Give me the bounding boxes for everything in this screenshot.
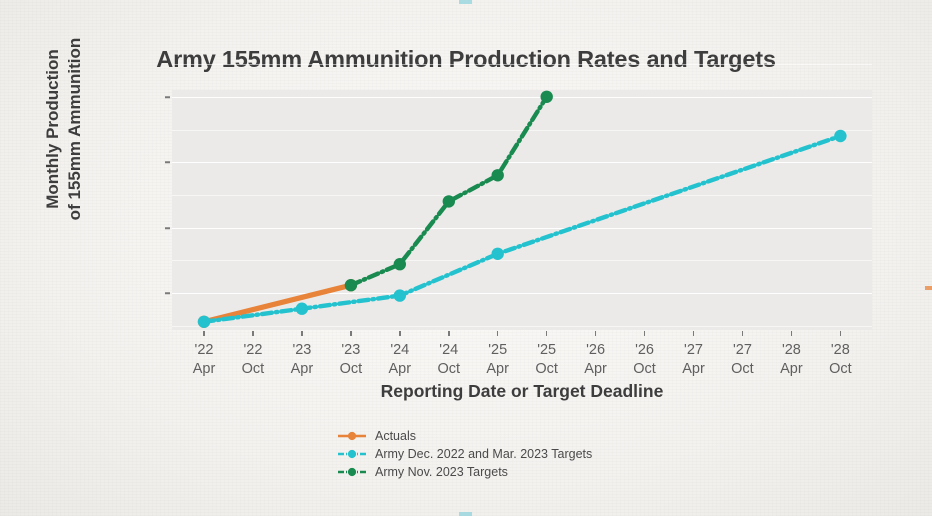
gridline-50k <box>172 228 872 229</box>
scan-artifact-bottom <box>459 512 472 516</box>
chart-title: Army 155mm Ammunition Production Rates a… <box>0 46 932 73</box>
y-tick-mark-25k <box>165 292 170 294</box>
gridline-minor-12k <box>172 326 872 327</box>
legend-key-nov2023-targets <box>337 465 367 479</box>
x-tick-mark <box>546 331 548 336</box>
y-tick-mark-100k <box>165 96 170 98</box>
gridline-75k <box>172 162 872 163</box>
x-tick-mark <box>840 331 842 336</box>
plot-area <box>172 90 872 330</box>
x-tick-mark <box>693 331 695 336</box>
gridline-minor-87k <box>172 130 872 131</box>
x-tick-mark <box>399 331 401 336</box>
gridline-25k <box>172 293 872 294</box>
legend-item-dec2022-mar2023-targets[interactable]: Army Dec. 2022 and Mar. 2023 Targets <box>337 445 592 463</box>
legend-item-nov2023-targets[interactable]: Army Nov. 2023 Targets <box>337 463 592 481</box>
gridline-minor-112k <box>172 64 872 65</box>
legend-label-nov2023-targets: Army Nov. 2023 Targets <box>375 465 508 479</box>
chart-page: Army 155mm Ammunition Production Rates a… <box>0 0 932 516</box>
chart-legend: Actuals Army Dec. 2022 and Mar. 2023 Tar… <box>337 427 592 481</box>
x-tick-year: '28 <box>810 341 870 360</box>
y-axis-title-line1: Monthly Production <box>42 14 64 244</box>
legend-label-actuals: Actuals <box>375 429 416 443</box>
x-tick-mark <box>644 331 646 336</box>
legend-key-actuals <box>337 429 367 443</box>
x-tick-mark <box>203 331 205 336</box>
x-tick-mark <box>742 331 744 336</box>
x-tick-mark <box>791 331 793 336</box>
x-tick-mark <box>252 331 254 336</box>
x-tick-mark <box>595 331 597 336</box>
gridline-minor-37k <box>172 260 872 261</box>
y-tick-mark-75k <box>165 161 170 163</box>
gridline-100k <box>172 97 872 98</box>
x-tick-mark <box>497 331 499 336</box>
x-tick-month: Oct <box>810 360 870 379</box>
x-tick-label: '28Oct <box>810 341 870 379</box>
gridline-minor-62k <box>172 195 872 196</box>
x-tick-mark <box>448 331 450 336</box>
x-tick-mark <box>301 331 303 336</box>
legend-label-dec2022-mar2023-targets: Army Dec. 2022 and Mar. 2023 Targets <box>375 447 592 461</box>
scan-artifact-right <box>925 286 932 290</box>
x-axis-title: Reporting Date or Target Deadline <box>172 381 872 402</box>
scan-artifact-top <box>459 0 472 4</box>
y-tick-mark-50k <box>165 227 170 229</box>
y-axis-title: Monthly Production of 155mm Ammunition <box>42 14 96 244</box>
x-tick-mark <box>350 331 352 336</box>
y-axis-title-line2: of 155mm Ammunition <box>64 14 86 244</box>
legend-key-dec2022-mar2023-targets <box>337 447 367 461</box>
legend-item-actuals[interactable]: Actuals <box>337 427 592 445</box>
